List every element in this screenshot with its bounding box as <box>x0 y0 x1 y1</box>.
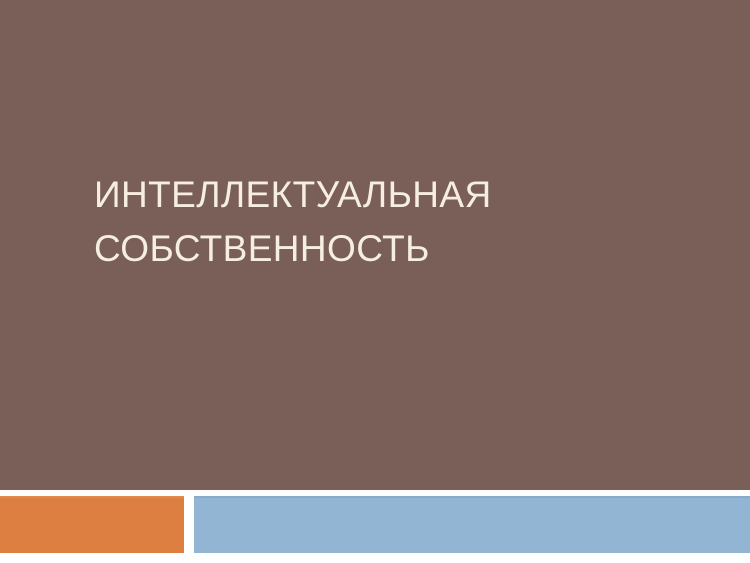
accent-bar-row <box>0 496 750 553</box>
slide-title: ИНТЕЛЛЕКТУАЛЬНАЯ СОБСТВЕННОСТЬ <box>94 168 654 276</box>
accent-bar-blue <box>194 496 750 553</box>
title-line-1: ИНТЕЛЛЕКТУАЛЬНАЯ <box>94 168 654 222</box>
title-slide: ИНТЕЛЛЕКТУАЛЬНАЯ СОБСТВЕННОСТЬ <box>0 0 750 563</box>
accent-bar-orange <box>0 496 184 553</box>
footer-strip <box>0 553 750 563</box>
title-line-2: СОБСТВЕННОСТЬ <box>94 222 654 276</box>
